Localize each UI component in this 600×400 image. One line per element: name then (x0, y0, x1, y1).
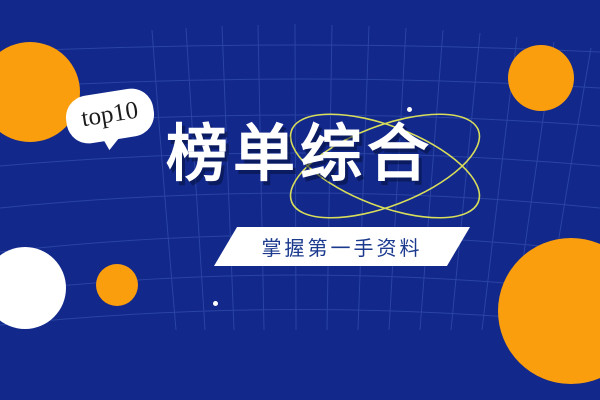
decor-dot-upper (407, 107, 412, 112)
subtitle-label: 掌握第一手资料 (214, 227, 470, 266)
orbit-rings (0, 0, 600, 400)
decor-dot-lower (213, 301, 218, 306)
poster-canvas: 榜单综合 top10 掌握第一手资料 (0, 0, 600, 400)
